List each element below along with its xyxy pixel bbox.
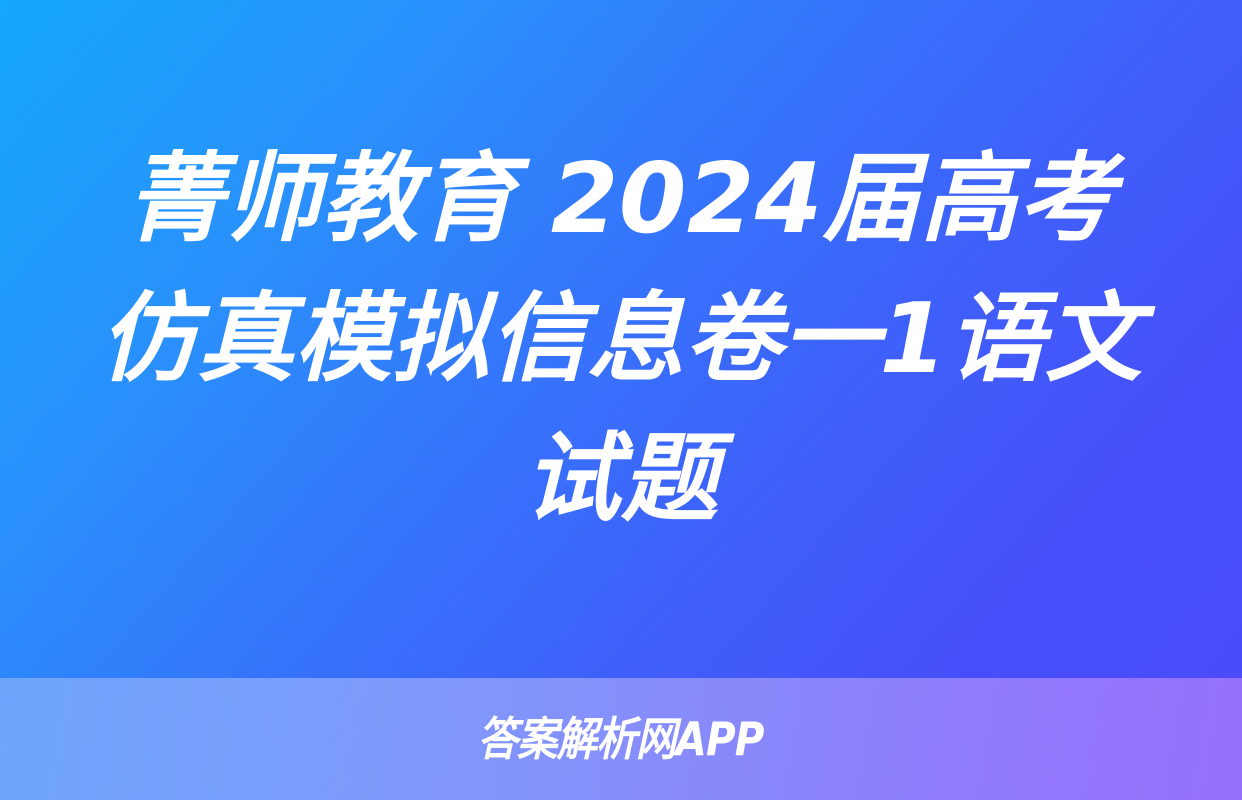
app-watermark-label: 答案解析网APP [478, 716, 764, 762]
hero-title-container: 菁师教育 2024届高考仿真模拟信息卷一1语文试题 [71, 129, 1171, 549]
poster-root: 菁师教育 2024届高考仿真模拟信息卷一1语文试题 答案解析网APP [0, 0, 1242, 800]
page-title: 菁师教育 2024届高考仿真模拟信息卷一1语文试题 [79, 129, 1163, 549]
hero-banner: 菁师教育 2024届高考仿真模拟信息卷一1语文试题 [0, 0, 1242, 678]
footer-watermark-band: 答案解析网APP [0, 678, 1242, 800]
